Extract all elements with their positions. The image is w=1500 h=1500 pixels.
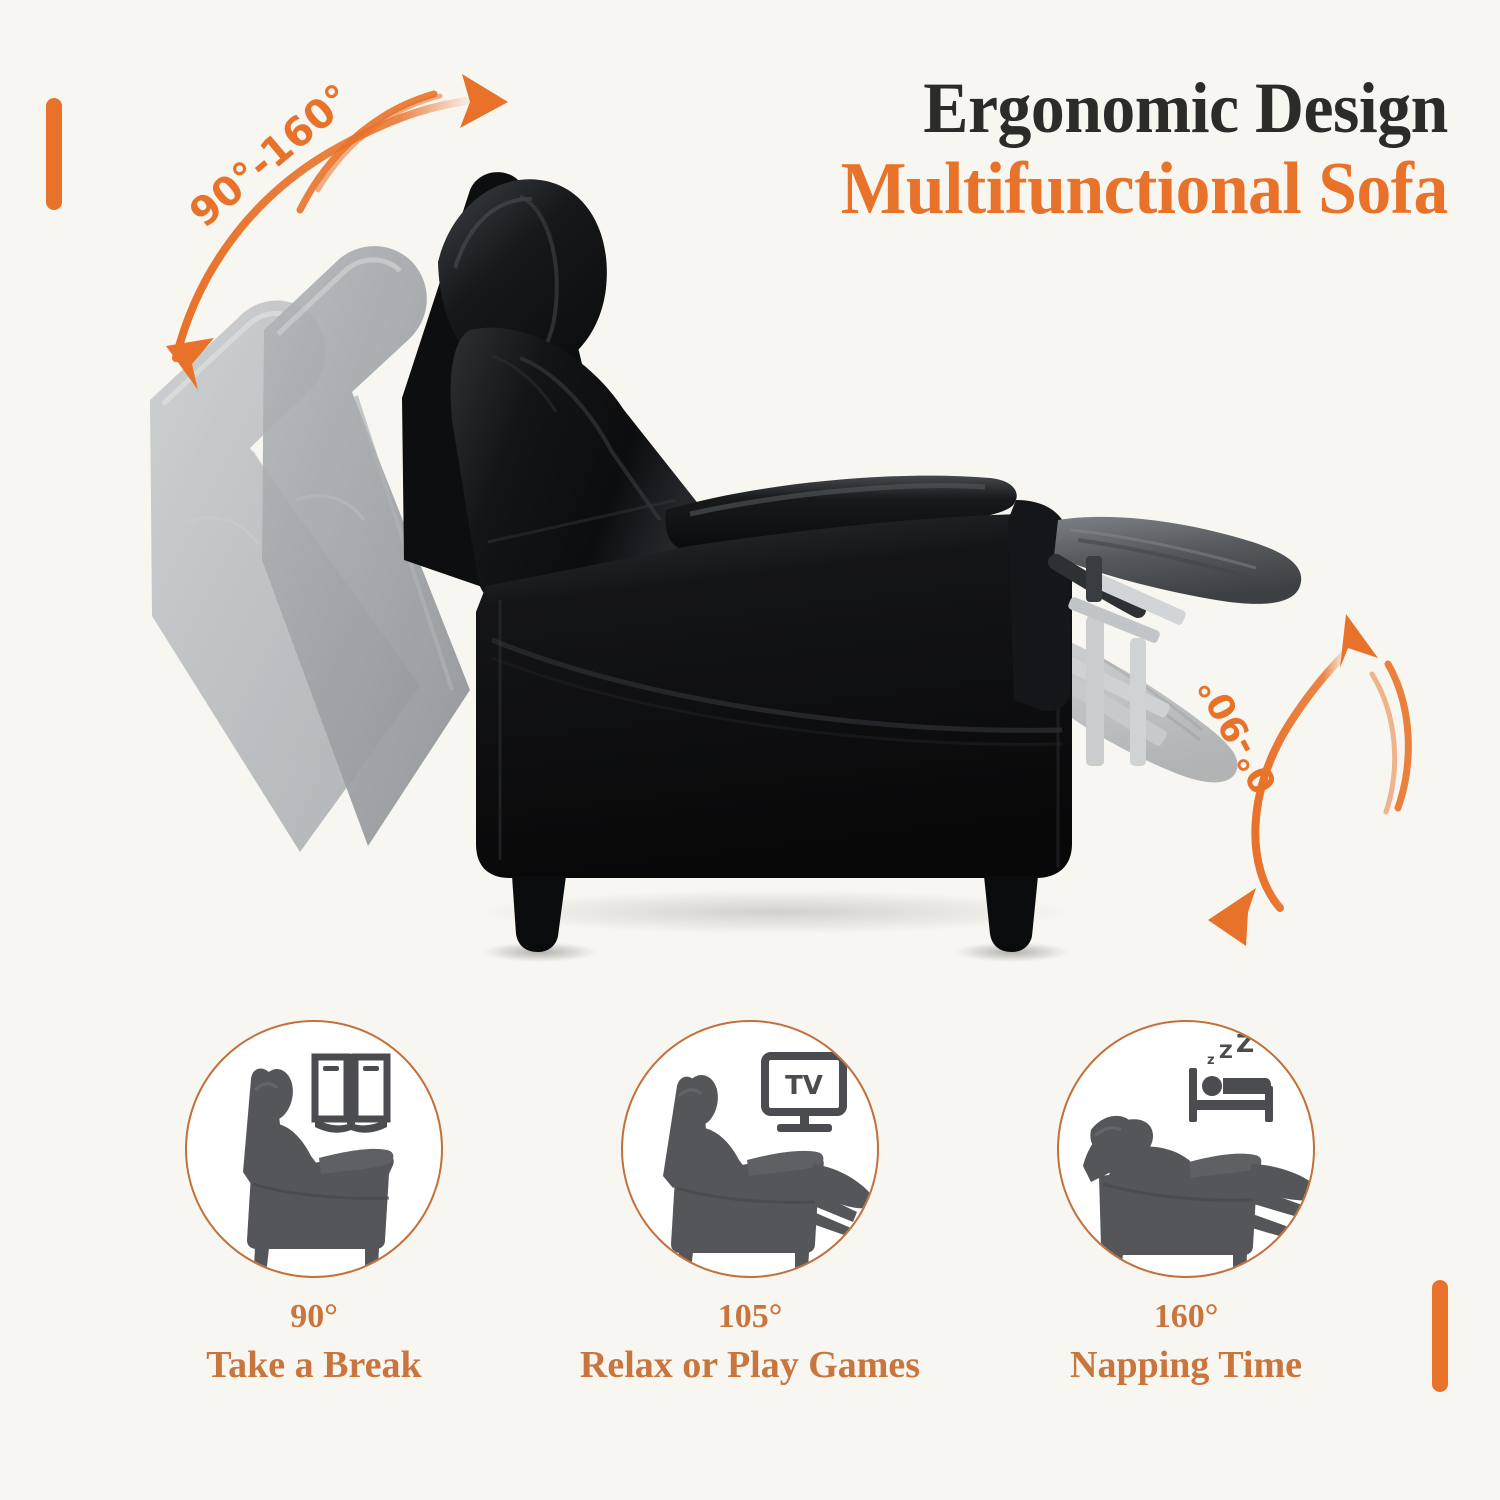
tv-icon: TV: [765, 1056, 843, 1132]
feature-row: 90° Take a Break TV: [0, 1020, 1500, 1384]
recliner-partial-icon: TV: [625, 1024, 875, 1274]
svg-text:Z: Z: [1236, 1029, 1254, 1058]
feature-circle-3: z Z Z: [1057, 1020, 1315, 1278]
svg-text:Z: Z: [1219, 1041, 1233, 1063]
recliner-upright-icon: [189, 1024, 439, 1274]
product-illustration: [0, 0, 1500, 1010]
footrest-rotation-arrow: [1208, 614, 1408, 946]
tv-label: TV: [785, 1071, 823, 1101]
bed-sleep-icon: z Z Z: [1189, 1029, 1273, 1122]
recliner-flat-icon: z Z Z: [1061, 1024, 1311, 1274]
feature-angle-2: 105°: [718, 1300, 783, 1334]
recliner-body-flat: [1083, 1116, 1311, 1274]
svg-text:z: z: [1207, 1053, 1215, 1068]
feature-angle-1: 90°: [290, 1300, 338, 1334]
feature-item-take-a-break[interactable]: 90° Take a Break: [159, 1020, 469, 1384]
feature-caption-1: Take a Break: [206, 1346, 421, 1384]
infographic-canvas: Ergonomic Design Multifunctional Sofa: [0, 0, 1500, 1500]
feature-item-relax-or-play-games[interactable]: TV: [595, 1020, 905, 1384]
open-book-icon: [315, 1054, 387, 1133]
feature-circle-1: [185, 1020, 443, 1278]
feature-caption-3: Napping Time: [1070, 1346, 1302, 1384]
feature-caption-2: Relax or Play Games: [580, 1346, 920, 1384]
feature-angle-3: 160°: [1154, 1300, 1219, 1334]
feature-item-napping-time[interactable]: z Z Z: [1031, 1020, 1341, 1384]
feature-circle-2: TV: [621, 1020, 879, 1278]
